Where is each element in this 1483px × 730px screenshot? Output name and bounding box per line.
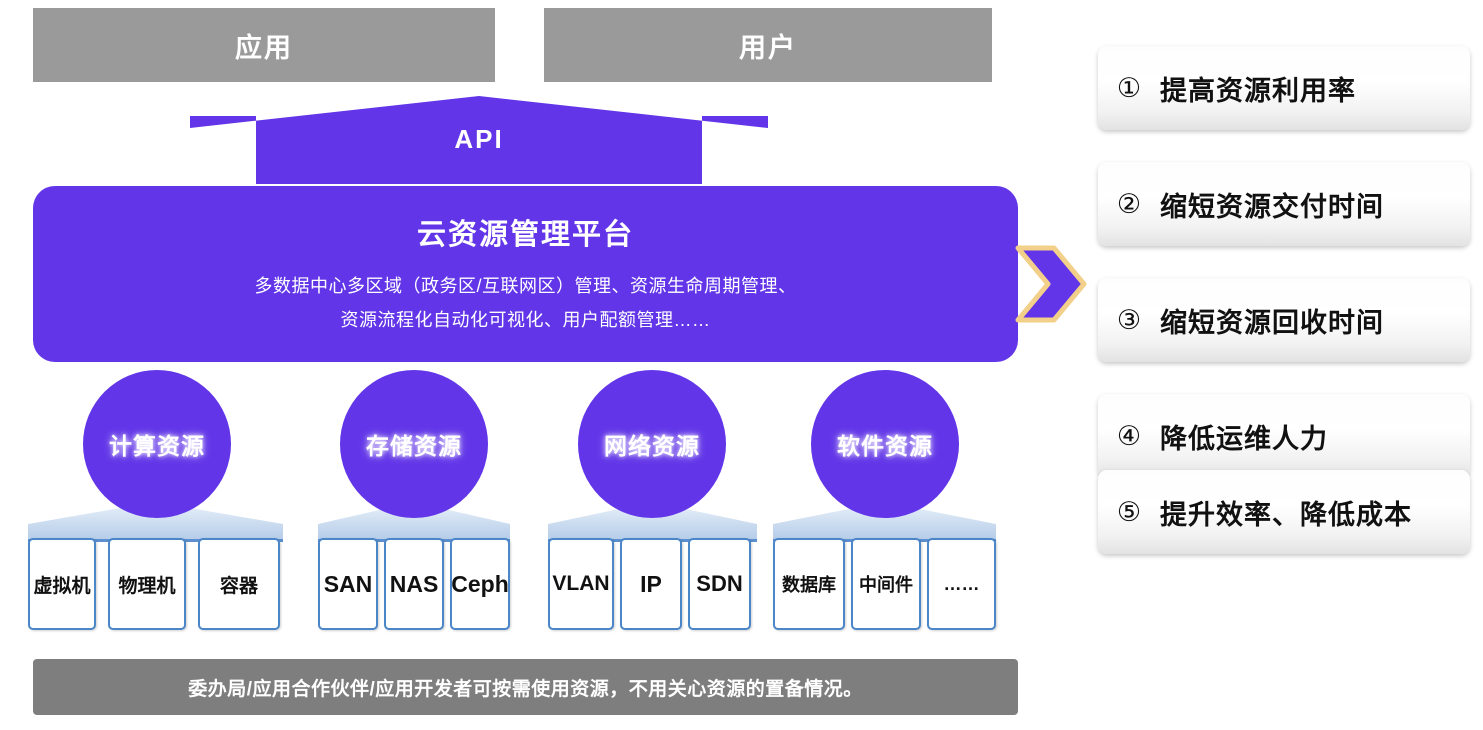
leaf-label: SAN: [324, 571, 373, 598]
leaf-row-storage: SAN NAS Ceph: [318, 538, 510, 630]
leaf-box: VLAN: [548, 538, 614, 630]
leaf-label: 中间件: [859, 571, 913, 597]
leaf-box: SDN: [688, 538, 751, 630]
leaf-label: 虚拟机: [33, 571, 90, 598]
consumer-label-app: 应用: [235, 26, 293, 65]
leaf-label: SDN: [696, 571, 742, 597]
leaf-row-compute: 虚拟机 物理机 容器: [28, 538, 283, 630]
resource-group-compute: 计算资源 虚拟机 物理机 容器: [28, 370, 283, 630]
footer-text: 委办局/应用合作伙伴/应用开发者可按需使用资源，不用关心资源的置备情况。: [188, 674, 863, 701]
leaf-box: 中间件: [851, 538, 921, 630]
leaf-label: 容器: [220, 571, 258, 598]
circle-network: 网络资源: [578, 370, 726, 518]
circle-label-storage: 存储资源: [366, 427, 462, 461]
leaf-box: ……: [927, 538, 996, 630]
leaf-label: 数据库: [782, 571, 836, 597]
leaf-row-network: VLAN IP SDN: [548, 538, 757, 630]
leaf-label: VLAN: [552, 572, 609, 596]
platform-desc-line1: 多数据中心多区域（政务区/互联网区）管理、资源生命周期管理、: [255, 269, 797, 303]
leaf-box: 数据库: [773, 538, 845, 630]
leaf-box: SAN: [318, 538, 378, 630]
circle-label-software: 软件资源: [837, 427, 933, 461]
api-arrow: API: [190, 96, 768, 184]
platform-title: 云资源管理平台: [417, 211, 634, 253]
consumer-box-user: 用户: [544, 8, 992, 82]
circle-compute: 计算资源: [83, 370, 231, 518]
cloud-resource-platform: 云资源管理平台 多数据中心多区域（政务区/互联网区）管理、资源生命周期管理、 资…: [33, 186, 1018, 362]
benefit-number-icon: ④: [1098, 423, 1160, 450]
resource-group-network: 网络资源 VLAN IP SDN: [548, 370, 757, 630]
api-label: API: [190, 124, 768, 155]
consumer-label-user: 用户: [739, 26, 797, 65]
benefit-label: 降低运维人力: [1160, 417, 1328, 456]
resource-group-software: 软件资源 数据库 中间件 ……: [773, 370, 996, 630]
benefit-card-5[interactable]: ⑤ 提升效率、降低成本: [1098, 470, 1470, 554]
benefit-card-4[interactable]: ④ 降低运维人力: [1098, 394, 1470, 478]
resource-group-storage: 存储资源 SAN NAS Ceph: [318, 370, 510, 630]
diagram-canvas: 应用 用户 API 云资源管理平台 多数据中心多区域（政务区/互联网区）管理、资…: [0, 0, 1483, 730]
leaf-box: IP: [620, 538, 682, 630]
circle-label-compute: 计算资源: [109, 427, 205, 461]
circle-label-network: 网络资源: [604, 427, 700, 461]
benefit-card-1[interactable]: ① 提高资源利用率: [1098, 46, 1470, 130]
benefit-label: 提高资源利用率: [1160, 69, 1356, 108]
leaf-label: Ceph: [451, 571, 509, 598]
benefit-number-icon: ③: [1098, 307, 1160, 334]
leaf-label: ……: [944, 574, 980, 595]
leaf-box: 物理机: [108, 538, 186, 630]
benefit-number-icon: ⑤: [1098, 499, 1160, 526]
chevron-right-icon: [1012, 242, 1090, 326]
benefit-number-icon: ①: [1098, 75, 1160, 102]
leaf-row-software: 数据库 中间件 ……: [773, 538, 996, 630]
benefit-label: 缩短资源回收时间: [1160, 301, 1384, 340]
leaf-box: NAS: [384, 538, 444, 630]
leaf-label: 物理机: [118, 571, 175, 598]
benefit-number-icon: ②: [1098, 191, 1160, 218]
benefit-card-3[interactable]: ③ 缩短资源回收时间: [1098, 278, 1470, 362]
circle-software: 软件资源: [811, 370, 959, 518]
benefit-card-2[interactable]: ② 缩短资源交付时间: [1098, 162, 1470, 246]
leaf-box: 虚拟机: [28, 538, 96, 630]
leaf-label: IP: [640, 571, 662, 598]
leaf-label: NAS: [390, 571, 439, 598]
benefit-label: 提升效率、降低成本: [1160, 493, 1412, 532]
leaf-box: Ceph: [450, 538, 510, 630]
leaf-box: 容器: [198, 538, 280, 630]
footer-banner: 委办局/应用合作伙伴/应用开发者可按需使用资源，不用关心资源的置备情况。: [33, 659, 1018, 715]
platform-desc-line2: 资源流程化自动化可视化、用户配额管理……: [341, 303, 711, 337]
benefit-label: 缩短资源交付时间: [1160, 185, 1384, 224]
consumer-box-app: 应用: [33, 8, 495, 82]
circle-storage: 存储资源: [340, 370, 488, 518]
